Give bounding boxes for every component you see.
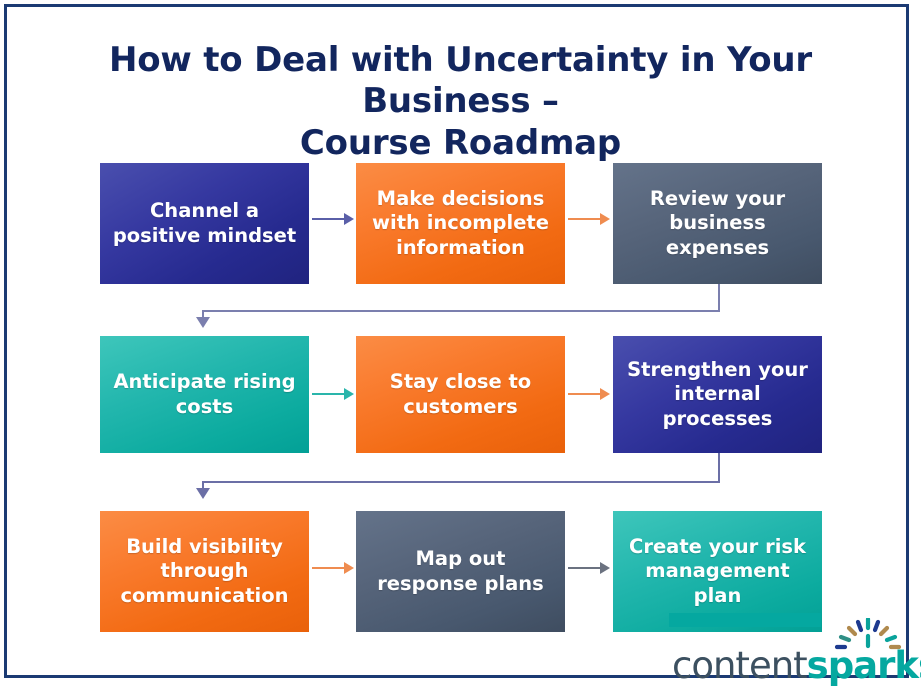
roadmap-step-9-line-2: management [629, 559, 806, 583]
page-title-line-1: How to Deal with Uncertainty in Your Bus… [40, 40, 881, 123]
arrow-shaft [312, 218, 345, 220]
arrow-shaft [568, 393, 601, 395]
roadmap-step-9-line-3: plan [629, 584, 806, 608]
roadmap-step-8[interactable]: Map out response plans [356, 511, 565, 632]
roadmap-step-6[interactable]: Strengthen your internal processes [613, 336, 822, 453]
arrow-head-icon [344, 388, 354, 400]
roadmap-step-2-line-1: Make decisions [372, 187, 549, 211]
roadmap-step-8-line-1: Map out [377, 547, 544, 571]
roadmap-step-7-line-1: Build visibility [120, 535, 288, 559]
slide-canvas: How to Deal with Uncertainty in Your Bus… [0, 0, 921, 690]
connector-arrow-head-icon [196, 488, 210, 499]
page-title-line-2: Course Roadmap [40, 123, 881, 164]
connector-segment-horizontal [202, 481, 720, 483]
roadmap-step-3-line-1: Review your [650, 187, 785, 211]
roadmap-step-7[interactable]: Build visibility through communication [100, 511, 309, 632]
logo-wordmark: contentsparks [672, 645, 921, 687]
roadmap-step-4[interactable]: Anticipate rising costs [100, 336, 309, 453]
roadmap-step-2-line-3: information [372, 236, 549, 260]
connector-segment-down-right [718, 453, 720, 483]
arrow-row1-step2-to-step3 [568, 212, 610, 226]
roadmap-step-7-line-3: communication [120, 584, 288, 608]
logo-accent-bar [669, 613, 821, 627]
roadmap-step-4-line-2: costs [113, 395, 295, 419]
roadmap-step-6-line-2: internal [627, 382, 808, 406]
roadmap-step-3-line-3: expenses [650, 236, 785, 260]
roadmap-step-7-line-2: through [120, 559, 288, 583]
roadmap-step-6-line-3: processes [627, 407, 808, 431]
roadmap-step-2-line-2: with incomplete [372, 211, 549, 235]
roadmap-step-2[interactable]: Make decisions with incomplete informati… [356, 163, 565, 284]
roadmap-step-1[interactable]: Channel a positive mindset [100, 163, 309, 284]
arrow-head-icon [600, 213, 610, 225]
roadmap-step-9-line-1: Create your risk [629, 535, 806, 559]
roadmap-step-3-line-2: business [650, 211, 785, 235]
arrow-head-icon [344, 213, 354, 225]
connector-segment-horizontal [202, 310, 720, 312]
roadmap-step-5[interactable]: Stay close to customers [356, 336, 565, 453]
roadmap-step-4-line-1: Anticipate rising [113, 370, 295, 394]
connector-row2-to-row3 [202, 453, 720, 501]
connector-row1-to-row2 [202, 284, 720, 328]
logo-word-sparks: sparks [807, 644, 921, 687]
roadmap-step-6-line-1: Strengthen your [627, 358, 808, 382]
roadmap-step-1-line-2: positive mindset [113, 224, 296, 248]
connector-arrow-head-icon [196, 317, 210, 328]
roadmap-step-5-line-1: Stay close to [390, 370, 531, 394]
roadmap-step-1-line-1: Channel a [113, 199, 296, 223]
arrow-row2-step2-to-step3 [568, 387, 610, 401]
arrow-row2-step1-to-step2 [312, 387, 354, 401]
page-title: How to Deal with Uncertainty in Your Bus… [40, 40, 881, 164]
arrow-head-icon [600, 562, 610, 574]
arrow-shaft [568, 567, 601, 569]
arrow-row1-step1-to-step2 [312, 212, 354, 226]
arrow-head-icon [600, 388, 610, 400]
arrow-row3-step2-to-step3 [568, 561, 610, 575]
logo-word-content: content [672, 644, 807, 687]
arrow-shaft [312, 567, 345, 569]
roadmap-step-5-line-2: customers [390, 395, 531, 419]
arrow-shaft [568, 218, 601, 220]
arrow-row3-step1-to-step2 [312, 561, 354, 575]
contentsparks-logo[interactable]: contentsparks [672, 645, 908, 687]
arrow-shaft [312, 393, 345, 395]
arrow-head-icon [344, 562, 354, 574]
roadmap-step-3[interactable]: Review your business expenses [613, 163, 822, 284]
roadmap-step-8-line-2: response plans [377, 572, 544, 596]
connector-segment-down-right [718, 284, 720, 312]
